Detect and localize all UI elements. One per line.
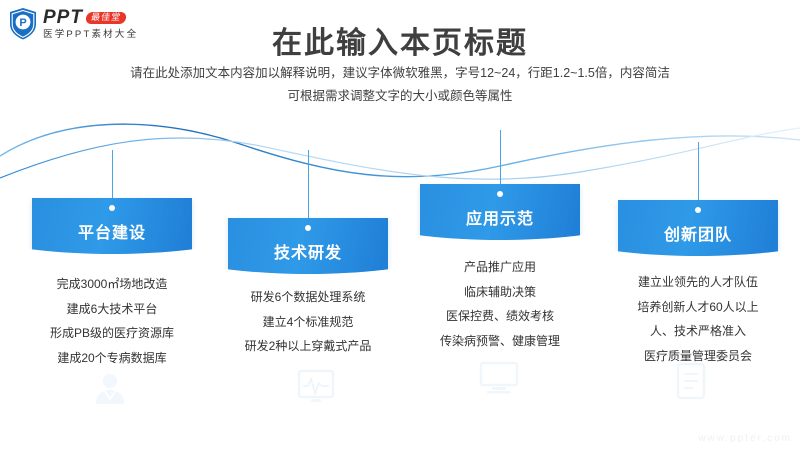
hang-line-4 <box>698 142 699 200</box>
list-item: 形成PB级的医疗资源库 <box>12 321 212 346</box>
column-lines-2: 研发6个数据处理系统 建立4个标准规范 研发2种以上穿戴式产品 <box>208 285 408 359</box>
column-banner-1[interactable]: 平台建设 <box>32 198 192 254</box>
banner-dot-icon <box>109 205 115 211</box>
page-subtitle: 请在此处添加文本内容加以解释说明，建议字体微软雅黑，字号12~24，行距1.2~… <box>0 62 800 108</box>
list-item: 建成20个专病数据库 <box>12 346 212 371</box>
column-label-4: 创新团队 <box>618 221 778 245</box>
column-banner-2[interactable]: 技术研发 <box>228 218 388 274</box>
list-item: 研发2种以上穿戴式产品 <box>208 334 408 359</box>
column-label-1: 平台建设 <box>32 219 192 243</box>
list-item: 研发6个数据处理系统 <box>208 285 408 310</box>
list-item: 临床辅助决策 <box>400 280 600 305</box>
list-item: 产品推广应用 <box>400 255 600 280</box>
ecg-monitor-icon <box>296 368 336 411</box>
subtitle-line-1: 请在此处添加文本内容加以解释说明，建议字体微软雅黑，字号12~24，行距1.2~… <box>0 62 800 85</box>
column-lines-3: 产品推广应用 临床辅助决策 医保控费、绩效考核 传染病预警、健康管理 <box>400 255 600 353</box>
page-title: 在此输入本页标题 <box>0 18 800 62</box>
column-label-2: 技术研发 <box>228 239 388 263</box>
list-item: 建立业领先的人才队伍 <box>598 270 798 295</box>
list-item: 培养创新人才60人以上 <box>598 295 798 320</box>
column-lines-4: 建立业领先的人才队伍 培养创新人才60人以上 人、技术严格准入 医疗质量管理委员… <box>598 270 798 368</box>
list-item: 传染病预警、健康管理 <box>400 329 600 354</box>
wave-decoration <box>0 110 800 210</box>
column-banner-4[interactable]: 创新团队 <box>618 200 778 256</box>
list-item: 医保控费、绩效考核 <box>400 304 600 329</box>
list-item: 建立4个标准规范 <box>208 310 408 335</box>
column-label-3: 应用示范 <box>420 205 580 229</box>
hang-line-1 <box>112 150 113 198</box>
document-icon <box>674 362 708 407</box>
hang-line-2 <box>308 150 309 218</box>
list-item: 建成6大技术平台 <box>12 297 212 322</box>
slide-canvas: P PPT 最佳堂 医学PPT素材大全 在此输入本页标题 请在此处添加文本内容加… <box>0 0 800 450</box>
subtitle-line-2: 可根据需求调整文字的大小或颜色等属性 <box>0 85 800 108</box>
doctor-icon <box>90 368 130 413</box>
column-lines-1: 完成3000㎡场地改造 建成6大技术平台 形成PB级的医疗资源库 建成20个专病… <box>12 272 212 370</box>
column-banner-3[interactable]: 应用示范 <box>420 184 580 240</box>
hang-line-3 <box>500 130 501 184</box>
list-item: 人、技术严格准入 <box>598 319 798 344</box>
computer-icon <box>478 360 520 403</box>
banner-dot-icon <box>695 207 701 213</box>
banner-dot-icon <box>305 225 311 231</box>
banner-dot-icon <box>497 191 503 197</box>
watermark: www.ppter.com <box>698 433 792 444</box>
list-item: 完成3000㎡场地改造 <box>12 272 212 297</box>
